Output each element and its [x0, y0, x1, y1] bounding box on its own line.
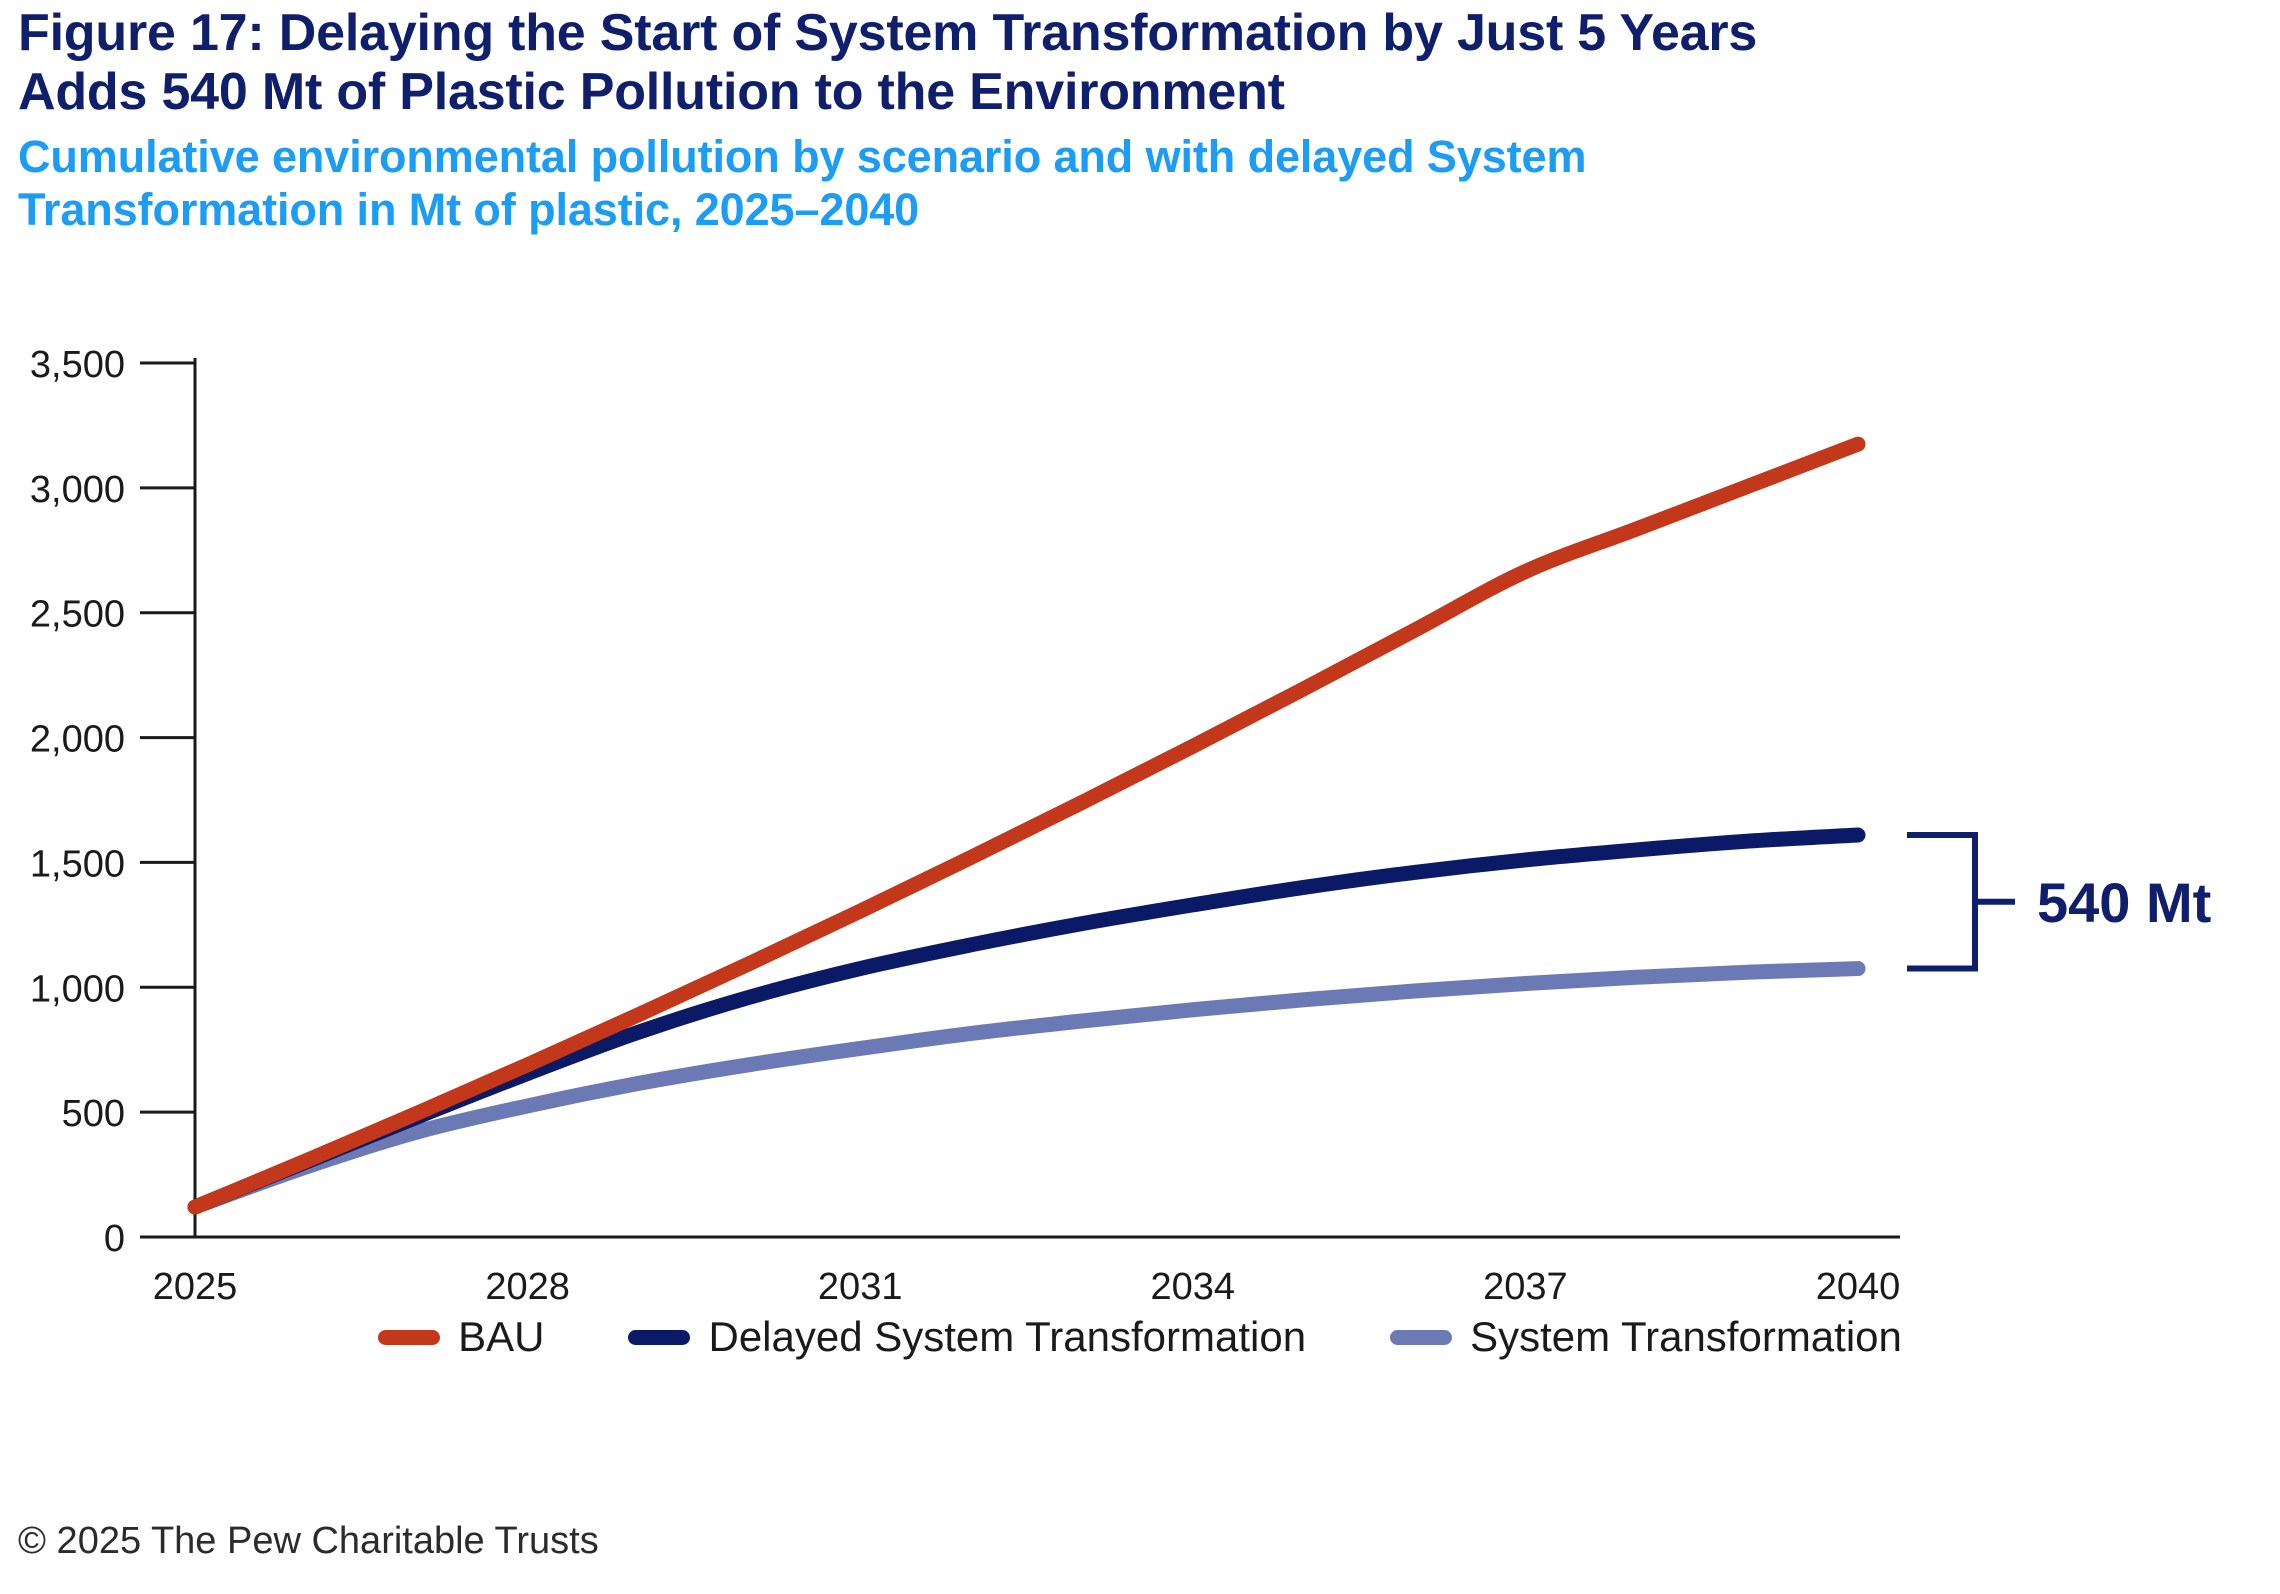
- y-tick-label: 1,000: [30, 968, 125, 1010]
- bracket-path: [1907, 835, 1975, 969]
- legend-label-system-transformation: System Transformation: [1470, 1316, 1902, 1358]
- page-subtitle: Cumulative environmental pollution by sc…: [18, 130, 2218, 236]
- line-chart: 05001,0001,5002,0002,5003,0003,500 20252…: [0, 228, 2280, 1408]
- annotation-bracket: [1907, 835, 2015, 969]
- legend-label-delayed-system-transformation: Delayed System Transformation: [708, 1316, 1306, 1358]
- series-line-bau: [195, 444, 1858, 1207]
- legend-swatch-delayed-system-transformation: [628, 1330, 690, 1345]
- x-tick-label: 2037: [1483, 1266, 1568, 1308]
- legend-item-bau[interactable]: BAU: [378, 1316, 544, 1358]
- x-tick-label: 2025: [153, 1266, 238, 1308]
- y-tick-label: 3,500: [30, 344, 125, 386]
- y-tick-label: 0: [104, 1218, 125, 1260]
- y-axis-ticks: 05001,0001,5002,0002,5003,0003,500: [30, 344, 195, 1260]
- legend-label-bau: BAU: [458, 1316, 544, 1358]
- legend-item-delayed-system-transformation[interactable]: Delayed System Transformation: [628, 1316, 1306, 1358]
- x-tick-label: 2034: [1151, 1266, 1236, 1308]
- x-tick-label: 2028: [485, 1266, 570, 1308]
- series-line-system-transformation: [195, 969, 1858, 1207]
- x-tick-label: 2040: [1816, 1266, 1901, 1308]
- legend-swatch-bau: [378, 1330, 440, 1345]
- figure-page: Figure 17: Delaying the Start of System …: [0, 0, 2280, 1594]
- y-tick-label: 1,500: [30, 843, 125, 885]
- page-title: Figure 17: Delaying the Start of System …: [18, 4, 2218, 122]
- copyright-footer: © 2025 The Pew Charitable Trusts: [18, 1520, 599, 1563]
- legend-swatch-system-transformation: [1390, 1330, 1452, 1345]
- y-tick-label: 2,000: [30, 719, 125, 761]
- series-lines: [195, 444, 1858, 1207]
- chart-legend: BAU Delayed System Transformation System…: [0, 1316, 2280, 1358]
- x-axis-ticks: 202520282031203420372040: [153, 1195, 1901, 1308]
- y-tick-label: 3,000: [30, 469, 125, 511]
- chart-svg: 05001,0001,5002,0002,5003,0003,500 20252…: [0, 228, 2280, 1408]
- x-tick-label: 2031: [818, 1266, 903, 1308]
- annotation-label: 540 Mt: [2037, 871, 2211, 934]
- legend-item-system-transformation[interactable]: System Transformation: [1390, 1316, 1902, 1358]
- title-block: Figure 17: Delaying the Start of System …: [18, 4, 2218, 236]
- y-tick-label: 2,500: [30, 594, 125, 636]
- y-tick-label: 500: [62, 1093, 125, 1135]
